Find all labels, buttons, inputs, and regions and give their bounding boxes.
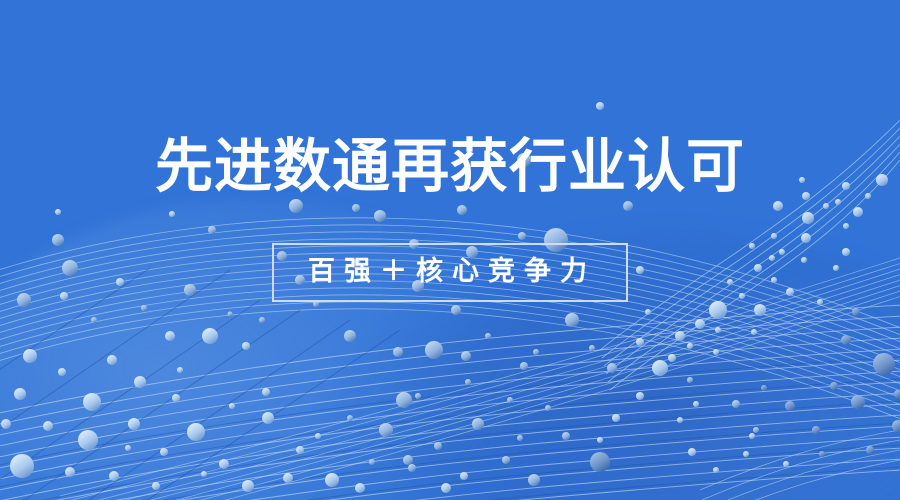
page-title: 先进数通再获行业认可 [155,136,745,199]
banner-content: 先进数通再获行业认可 百强＋核心竞争力 [0,0,900,500]
promo-banner: 先进数通再获行业认可 百强＋核心竞争力 [0,0,900,500]
subtitle-badge: 百强＋核心竞争力 [272,243,628,302]
subtitle-text: 百强＋核心竞争力 [308,258,596,285]
